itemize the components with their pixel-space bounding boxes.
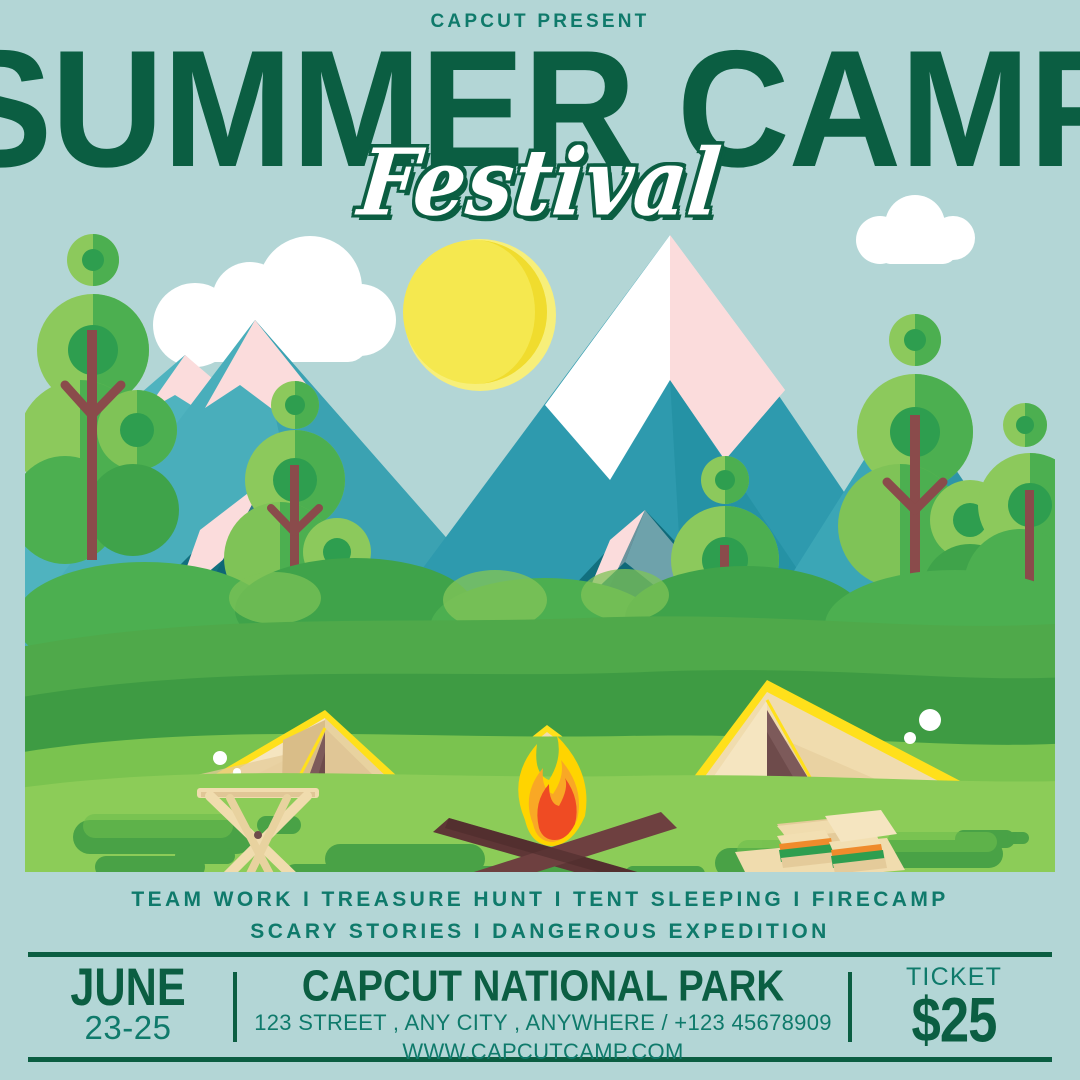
venue-block: CAPCUT NATIONAL PARK 123 STREET , ANY CI…: [240, 964, 846, 1066]
ticket-block: TICKET $25: [856, 962, 1052, 1048]
event-date: JUNE 23-25: [28, 964, 228, 1046]
sandwich-1: [777, 830, 837, 868]
ticket-price: $25: [862, 989, 1046, 1052]
sandwich-2: [829, 836, 887, 872]
footer-divider-right: [848, 972, 852, 1042]
poster-header: CAPCUT PRESENT SUMMER CAMP Festival: [0, 0, 1080, 232]
poster-footer: JUNE 23-25 CAPCUT NATIONAL PARK 123 STRE…: [28, 952, 1052, 1062]
footer-divider-left: [233, 972, 237, 1042]
activities-line-2: SCARY STORIES I DANGEROUS EXPEDITION: [0, 916, 1080, 948]
venue-name: CAPCUT NATIONAL PARK: [252, 962, 834, 1010]
subtitle-script: Festival: [0, 129, 1080, 237]
venue-website[interactable]: WWW.CAPCUTCAMP.COM: [240, 1038, 846, 1066]
activities-line-1: TEAM WORK I TREASURE HUNT I TENT SLEEPIN…: [0, 884, 1080, 916]
camp-illustration: [25, 180, 1055, 872]
activities-list: TEAM WORK I TREASURE HUNT I TENT SLEEPIN…: [0, 884, 1080, 948]
venue-address: 123 STREET , ANY CITY , ANYWHERE / +123 …: [240, 1008, 846, 1038]
event-month: JUNE: [36, 961, 220, 1013]
